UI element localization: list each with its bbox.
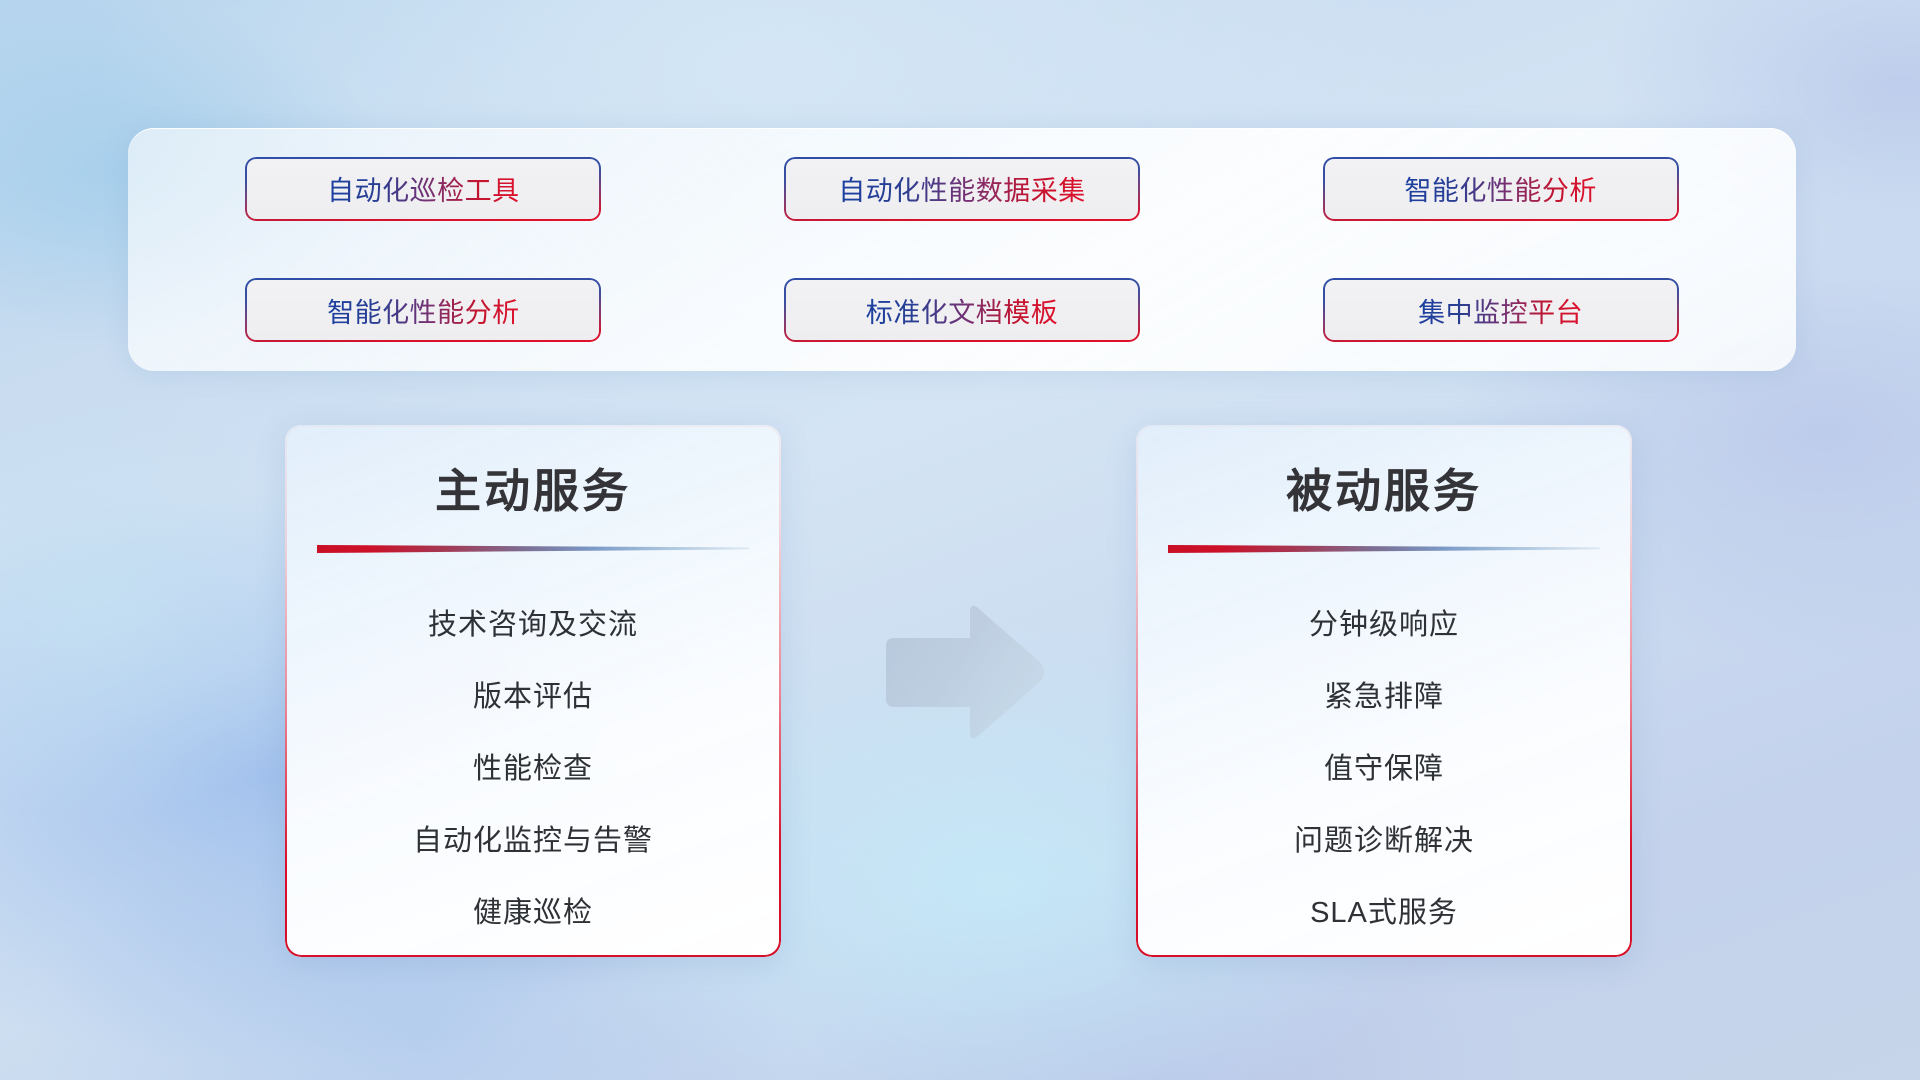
card-item-list: 分钟级响应 紧急排障 值守保障 问题诊断解决 SLA式服务 — [1136, 589, 1632, 949]
capability-pill-6[interactable]: 集中监控平台 — [1323, 278, 1679, 342]
list-item: 自动化监控与告警 — [285, 805, 781, 877]
card-divider — [317, 543, 749, 555]
capability-pill-5[interactable]: 标准化文档模板 — [784, 278, 1140, 342]
list-item: 值守保障 — [1136, 733, 1632, 805]
list-item: 紧急排障 — [1136, 661, 1632, 733]
card-item-list: 技术咨询及交流 版本评估 性能检查 自动化监控与告警 健康巡检 — [285, 589, 781, 949]
card-divider — [1168, 543, 1600, 555]
capability-pill-label: 自动化性能数据采集 — [838, 169, 1086, 208]
list-item: 技术咨询及交流 — [285, 589, 781, 661]
capability-pill-4[interactable]: 智能化性能分析 — [245, 278, 601, 342]
list-item: 性能检查 — [285, 733, 781, 805]
capability-pill-label: 自动化巡检工具 — [327, 169, 520, 208]
capabilities-panel: 自动化巡检工具 自动化性能数据采集 智能化性能分析 智能化性能分析 标准化文档模… — [128, 128, 1796, 371]
capability-pill-label: 集中监控平台 — [1418, 291, 1583, 330]
capability-pill-label: 标准化文档模板 — [866, 291, 1059, 330]
list-item: 分钟级响应 — [1136, 589, 1632, 661]
capability-pill-label: 智能化性能分析 — [327, 291, 520, 330]
list-item: 健康巡检 — [285, 877, 781, 949]
capability-pill-1[interactable]: 自动化巡检工具 — [245, 157, 601, 221]
arrow-right-icon — [878, 600, 1046, 745]
service-card-proactive: 主动服务 技术咨询及交流 版本评估 性能检查 自动化监控与告警 健康巡检 — [285, 425, 781, 957]
capability-pill-2[interactable]: 自动化性能数据采集 — [784, 157, 1140, 221]
list-item: 版本评估 — [285, 661, 781, 733]
capability-pill-3[interactable]: 智能化性能分析 — [1323, 157, 1679, 221]
card-title: 主动服务 — [285, 455, 781, 521]
capability-pill-label: 智能化性能分析 — [1404, 169, 1597, 208]
service-card-reactive: 被动服务 分钟级响应 紧急排障 值守保障 问题诊断解决 SLA式服务 — [1136, 425, 1632, 957]
list-item: 问题诊断解决 — [1136, 805, 1632, 877]
card-title: 被动服务 — [1136, 455, 1632, 521]
list-item: SLA式服务 — [1136, 877, 1632, 949]
